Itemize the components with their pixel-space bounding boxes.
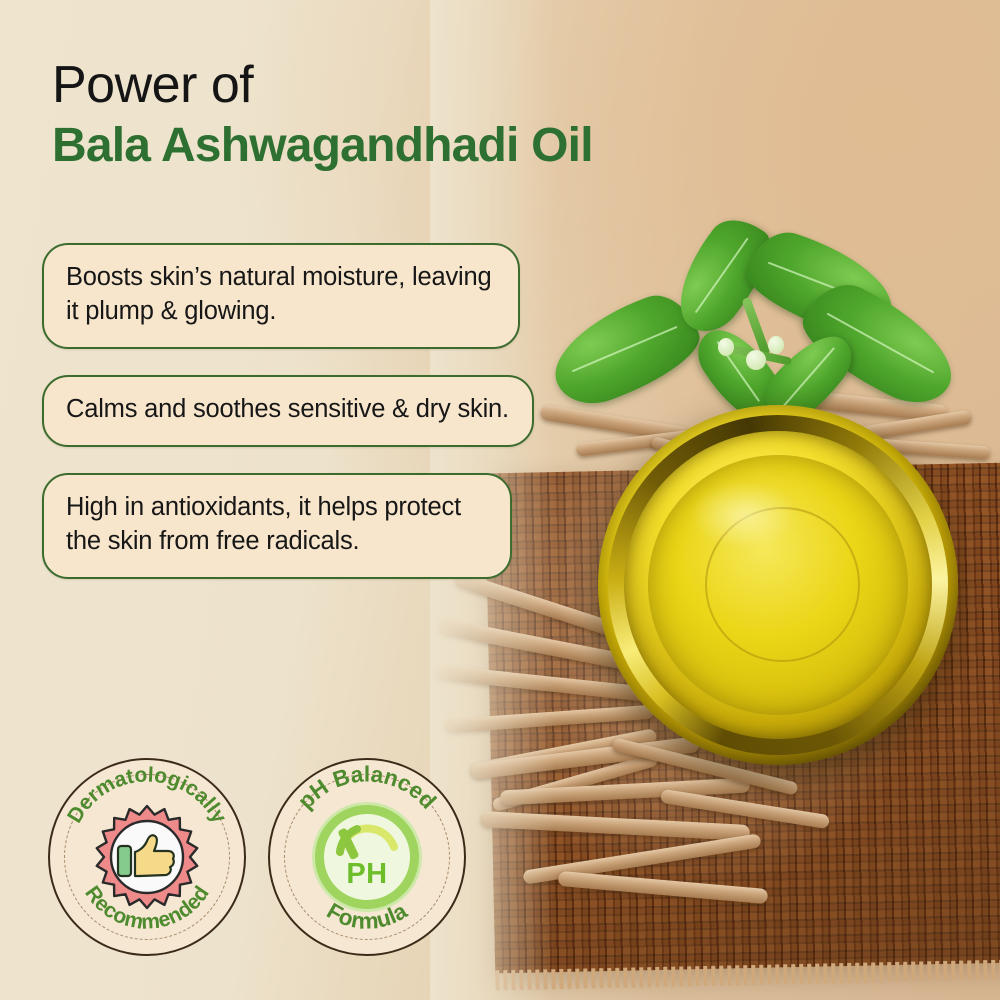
oil-bowl bbox=[598, 405, 958, 765]
thumbs-up-icon bbox=[116, 832, 178, 882]
title-line-2: Bala Ashwagandhadi Oil bbox=[52, 119, 593, 173]
oil-highlight bbox=[690, 481, 799, 549]
badge-ph-balanced-formula: pH Balanced Formula PH bbox=[268, 758, 466, 956]
benefit-card: Calms and soothes sensitive & dry skin. bbox=[42, 375, 534, 447]
ph-gauge-icon: PH bbox=[315, 805, 419, 909]
product-benefits-poster: Power of Bala Ashwagandhadi Oil Boosts s… bbox=[0, 0, 1000, 1000]
ph-label: PH bbox=[324, 860, 410, 889]
benefits-list: Boosts skin’s natural moisture, leaving … bbox=[42, 243, 534, 605]
oil-surface bbox=[648, 455, 908, 715]
thumbs-up-seal bbox=[93, 803, 201, 911]
trust-badges: Dermatologically Recommended bbox=[48, 758, 466, 956]
title-line-1: Power of bbox=[52, 58, 593, 113]
benefit-text: Boosts skin’s natural moisture, leaving … bbox=[66, 261, 496, 329]
benefit-text: High in antioxidants, it helps protect t… bbox=[66, 491, 488, 559]
badge-dermatologically-recommended: Dermatologically Recommended bbox=[48, 758, 246, 956]
benefit-card: Boosts skin’s natural moisture, leaving … bbox=[42, 243, 520, 349]
benefit-card: High in antioxidants, it helps protect t… bbox=[42, 473, 512, 579]
ashwagandha-roots-bottom bbox=[470, 740, 900, 920]
benefit-text: Calms and soothes sensitive & dry skin. bbox=[66, 393, 510, 427]
page-title: Power of Bala Ashwagandhadi Oil bbox=[52, 58, 593, 173]
